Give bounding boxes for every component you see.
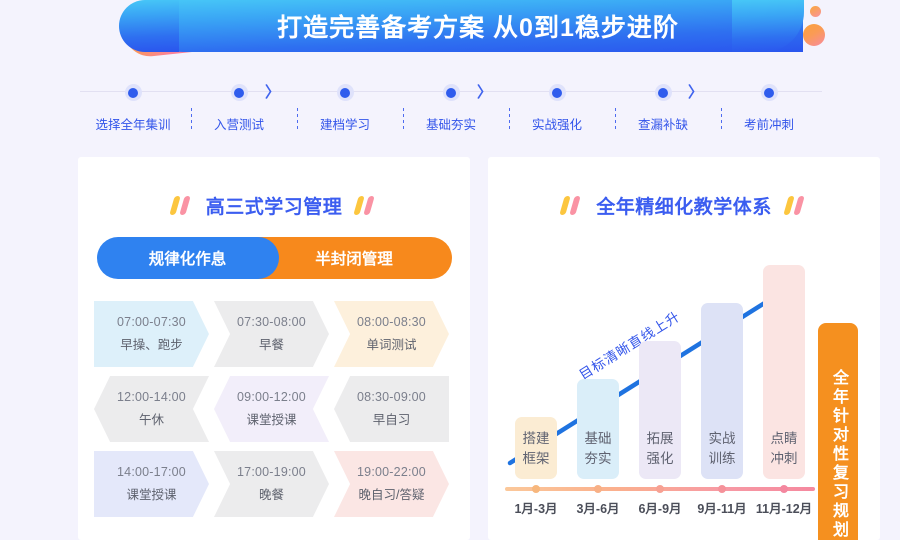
study-management-card: 高三式学习管理 半封闭管理 规律化作息 07:00-07:30早操、跑步07:3… [78,157,470,540]
banner-bar: 打造完善备考方案 从0到1稳步进阶 [153,0,803,52]
chart-x-tick-label: 9月-11月 [691,498,753,517]
timeline-step-2[interactable]: 入营测试 [186,84,292,134]
schedule-item-desc: 早餐 [259,334,284,353]
timeline-step-label: 实战强化 [532,114,582,133]
schedule-item-desc: 午休 [139,409,164,428]
chart-bar-wrapper: 实战训练 [691,303,753,479]
schedule-item-time: 19:00-22:00 [357,465,426,479]
quote-mark-right-icon [784,196,808,215]
chart-x-axis [505,487,815,491]
timeline-node-icon [231,84,248,101]
schedule-item: 07:00-07:30早操、跑步 [94,301,209,367]
page-root: 打造完善备考方案 从0到1稳步进阶 〉 〉 〉 选择全年集训入营测试建档学习基础… [0,0,900,540]
chart-x-tick-label: 1月-3月 [505,498,567,517]
timeline-step-3[interactable]: 建档学习 [292,84,398,134]
chart-axis-dot-icon [656,485,664,493]
schedule-item-time: 14:00-17:00 [117,465,186,479]
schedule-row: 14:00-17:00课堂授课17:00-19:00晚餐19:00-22:00晚… [94,451,454,517]
schedule-item-time: 17:00-19:00 [237,465,306,479]
schedule-item-desc: 早操、跑步 [120,334,183,353]
chart-bar-wrapper: 拓展强化 [629,341,691,479]
chart-axis-dot-icon [532,485,540,493]
left-card-header: 高三式学习管理 [78,179,470,231]
timeline-node-icon [125,84,142,101]
chart-bar: 搭建框架 [515,417,557,479]
chart-bar-label: 夯实 [585,451,612,468]
chart-bars: 搭建框架基础夯实拓展强化实战训练点睛冲刺 [505,249,815,479]
chart-bar-wrapper: 点睛冲刺 [753,265,815,479]
yearly-plan-bar-chart: 目标清晰直线上升 搭建框架基础夯实拓展强化实战训练点睛冲刺 1月-3月3月-6月… [488,235,880,535]
schedule-item-desc: 晚自习/答疑 [359,484,425,503]
schedule-row: 12:00-14:00午休09:00-12:00课堂授课08:30-09:00早… [94,376,454,442]
progress-timeline: 〉 〉 〉 选择全年集训入营测试建档学习基础夯实实战强化查漏补缺考前冲刺 [80,84,822,134]
left-card-title: 高三式学习管理 [206,192,343,219]
quote-mark-left-icon [560,196,584,215]
timeline-node-icon [549,84,566,101]
schedule-item-desc: 单词测试 [366,334,416,353]
schedule-item-desc: 早自习 [373,409,411,428]
timeline-step-6[interactable]: 查漏补缺 [610,84,716,134]
chart-bar-label: 强化 [647,451,674,468]
chart-x-tick-label: 11月-12月 [753,498,815,517]
timeline-step-label: 选择全年集训 [95,114,170,133]
chart-bar-label: 点睛 [771,431,798,448]
quote-mark-left-icon [170,196,194,215]
hero-banner: 打造完善备考方案 从0到1稳步进阶 [0,0,900,60]
chart-axis-dot-icon [780,485,788,493]
schedule-item-desc: 课堂授课 [126,484,176,503]
chart-axis-dot-icon [594,485,602,493]
chart-bar-wrapper: 搭建框架 [505,417,567,479]
schedule-item: 12:00-14:00午休 [94,376,209,442]
banner-title: 打造完善备考方案 从0到1稳步进阶 [153,0,803,52]
timeline-step-7[interactable]: 考前冲刺 [716,84,822,134]
schedule-item-desc: 晚餐 [259,484,284,503]
vertical-banner: 全年针对性复习规划 [818,323,858,540]
timeline-step-label: 考前冲刺 [744,114,794,133]
chart-bar: 拓展强化 [639,341,681,479]
timeline-step-1[interactable]: 选择全年集训 [80,84,186,134]
chart-bar-label: 拓展 [647,431,674,448]
chart-x-tick-label: 6月-9月 [629,498,691,517]
circle-decoration-large-icon [803,24,825,46]
schedule-item: 08:30-09:00早自习 [334,376,449,442]
schedule-item: 08:00-08:30单词测试 [334,301,449,367]
schedule-item-desc: 课堂授课 [246,409,296,428]
teaching-system-card: 全年精细化教学体系 目标清晰直线上升 搭建框架基础夯实拓展强化实战训练点睛冲刺 … [488,157,880,540]
right-card-title: 全年精细化教学体系 [596,192,772,219]
schedule-item-time: 08:30-09:00 [357,390,426,404]
schedule-tabs: 半封闭管理 规律化作息 [97,237,452,279]
timeline-step-5[interactable]: 实战强化 [504,84,610,134]
tab-regular-routine[interactable]: 规律化作息 [97,237,279,279]
schedule-item-time: 12:00-14:00 [117,390,186,404]
timeline-node-icon [443,84,460,101]
schedule-item: 19:00-22:00晚自习/答疑 [334,451,449,517]
chart-bar-label: 训练 [709,451,736,468]
quote-mark-right-icon [354,196,378,215]
chart-bar: 实战训练 [701,303,743,479]
chart-bar-wrapper: 基础夯实 [567,379,629,479]
timeline-step-label: 建档学习 [320,114,370,133]
right-card-header: 全年精细化教学体系 [488,179,880,231]
timeline-node-icon [337,84,354,101]
chart-x-tick-label: 3月-6月 [567,498,629,517]
timeline-step-label: 入营测试 [214,114,264,133]
chart-bar-label: 搭建 [523,431,550,448]
timeline-step-4[interactable]: 基础夯实 [398,84,504,134]
chart-axis-dot-icon [718,485,726,493]
timeline-step-label: 查漏补缺 [638,114,688,133]
schedule-item: 09:00-12:00课堂授课 [214,376,329,442]
timeline-step-label: 基础夯实 [426,114,476,133]
chart-bar: 点睛冲刺 [763,265,805,479]
schedule-item: 17:00-19:00晚餐 [214,451,329,517]
circle-decoration-small-icon [810,6,821,17]
schedule-item-time: 07:30-08:00 [237,315,306,329]
schedule-item: 14:00-17:00课堂授课 [94,451,209,517]
schedule-item-time: 09:00-12:00 [237,390,306,404]
chart-bar-label: 冲刺 [771,451,798,468]
schedule-row: 07:00-07:30早操、跑步07:30-08:00早餐08:00-08:30… [94,301,454,367]
schedule-item-time: 08:00-08:30 [357,315,426,329]
timeline-node-icon [761,84,778,101]
vertical-banner-label: 全年针对性复习规划 [826,369,850,540]
schedule-item-time: 07:00-07:30 [117,315,186,329]
chart-bar: 基础夯实 [577,379,619,479]
chart-bar-label: 框架 [523,451,550,468]
schedule-item: 07:30-08:00早餐 [214,301,329,367]
chart-bar-label: 实战 [709,431,736,448]
chart-x-tick-labels: 1月-3月3月-6月6月-9月9月-11月11月-12月 [505,498,815,517]
chart-bar-label: 基础 [585,431,612,448]
timeline-node-icon [655,84,672,101]
daily-schedule-list: 07:00-07:30早操、跑步07:30-08:00早餐08:00-08:30… [94,301,454,517]
